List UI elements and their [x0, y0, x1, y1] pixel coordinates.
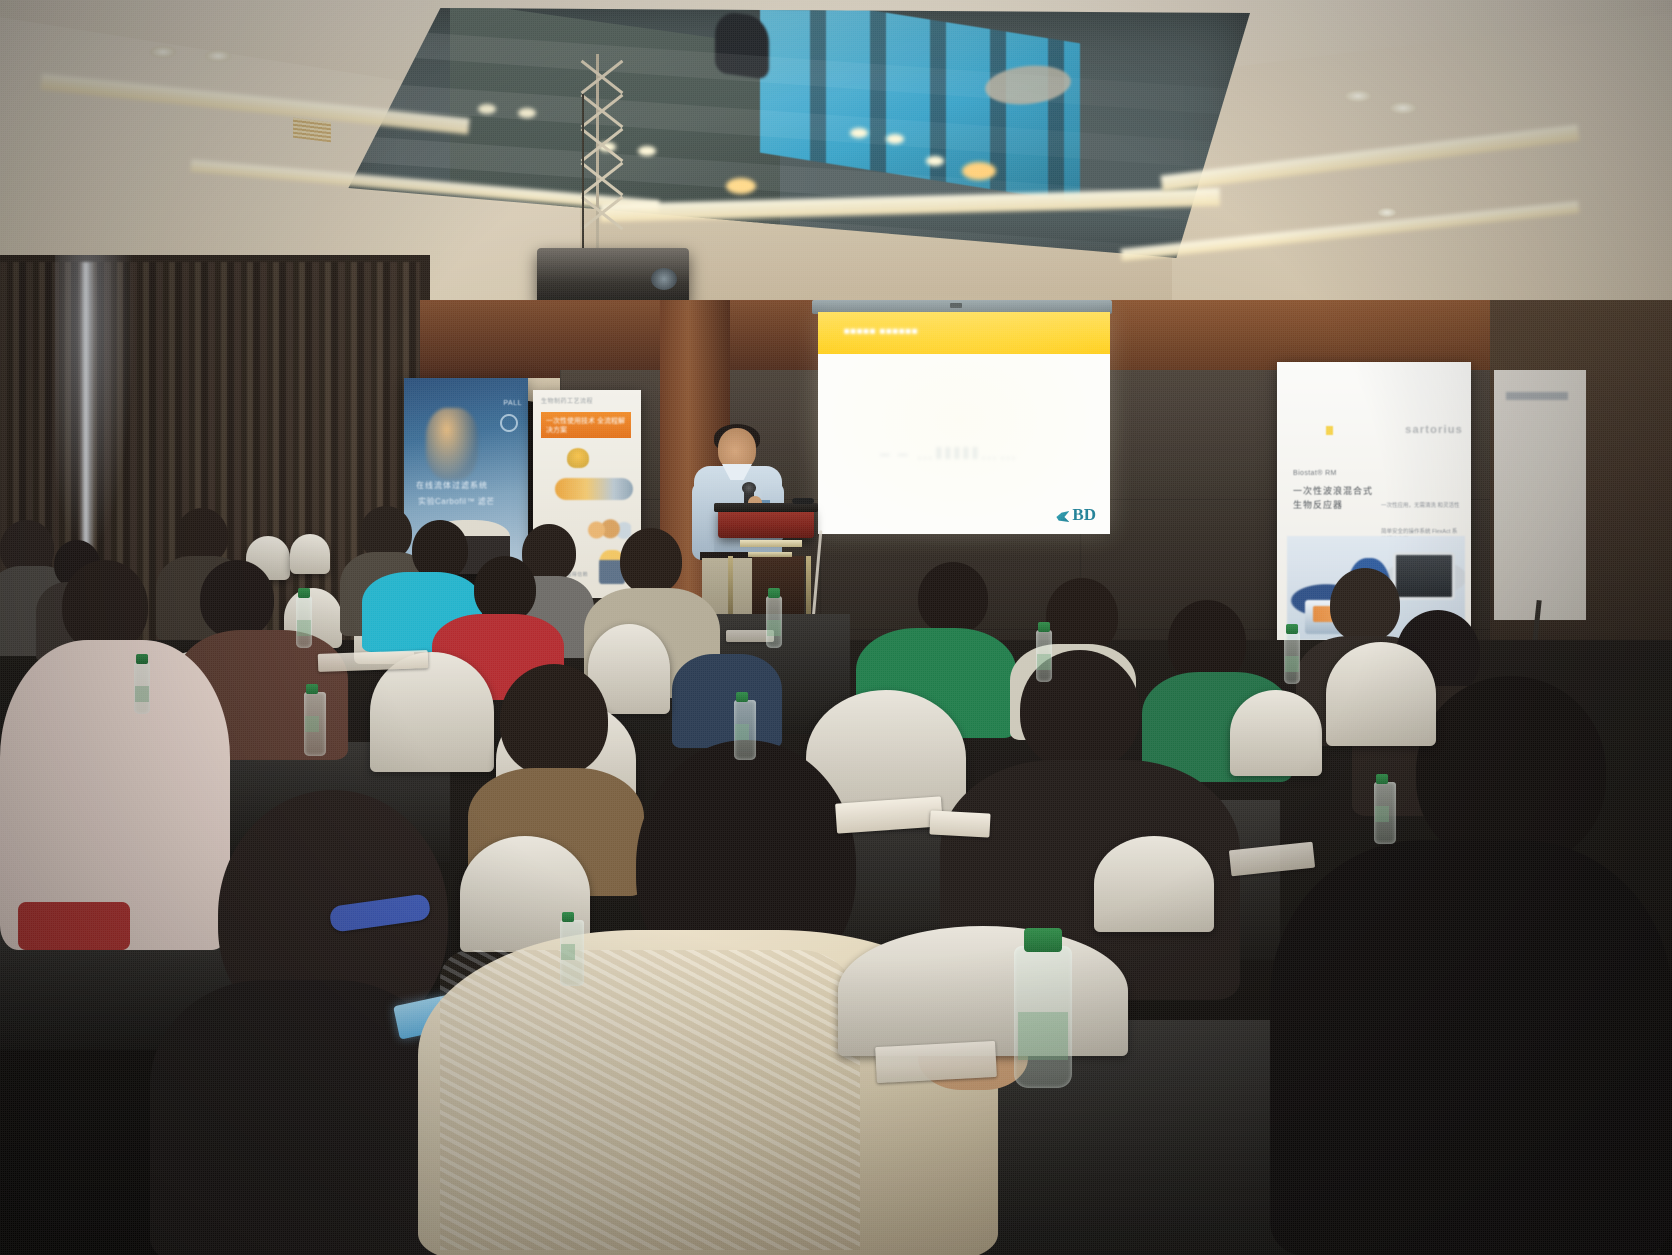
attendee-head	[474, 556, 536, 622]
attendee-black-silhouette	[1416, 676, 1606, 866]
attendee-bag	[18, 902, 130, 950]
bd-swoosh-icon	[1056, 511, 1069, 522]
banner-white-band-text: 一次性使用技术 全流程解决方案	[546, 417, 627, 435]
banquet-chair	[1230, 690, 1322, 776]
sartorius-logo-text: sartorius	[1405, 424, 1463, 436]
sartorius-logo-icon	[1326, 426, 1333, 435]
banner-white-people-artwork	[585, 518, 631, 542]
water-bottle[interactable]	[296, 596, 312, 648]
ceiling-downlight	[1378, 208, 1396, 217]
bd-logo-text: BD	[1072, 507, 1096, 522]
water-bottle[interactable]	[134, 662, 150, 714]
sartorius-headline-2: 生物反应器	[1293, 498, 1343, 511]
attendee-head	[1046, 578, 1118, 654]
slide-title-text: ■■■■■ ■■■■■■	[844, 326, 918, 336]
banquet-chair	[838, 926, 1128, 1056]
handout-paper	[929, 810, 990, 837]
sartorius-headline-1: 一次性波浪混合式	[1293, 484, 1373, 497]
attendee-head	[620, 528, 682, 594]
attendee-head	[200, 560, 274, 638]
banner-white-header: 生物制药工艺流程	[541, 396, 633, 405]
sartorius-monitor-image	[1393, 552, 1455, 600]
lectern	[718, 508, 814, 538]
flipchart-easel	[1494, 370, 1586, 620]
lectern-desktop	[714, 503, 818, 512]
banner-blue-headline: 在线流体过滤系统	[416, 480, 488, 491]
attendee-head	[412, 520, 468, 580]
daylight-glow	[55, 255, 135, 555]
handout-paper	[318, 650, 429, 672]
flipchart-marking	[1506, 392, 1568, 400]
lectern-gold-trim	[740, 540, 802, 547]
water-bottle[interactable]	[304, 692, 326, 756]
projector-lens	[651, 268, 677, 290]
lectern-microphone	[792, 498, 814, 504]
attendee-head	[500, 664, 608, 776]
ceiling-downlight	[1345, 90, 1371, 102]
screen-roller-bracket	[950, 303, 962, 308]
banner-white-icon	[567, 448, 589, 468]
banquet-chair	[290, 534, 330, 574]
water-bottle[interactable]	[1014, 946, 1072, 1088]
sartorius-bullet: 一次性应用，无需清洗 和灵活性	[1381, 502, 1461, 510]
water-bottle[interactable]	[1374, 782, 1396, 844]
sartorius-product-line: Biostat® RM	[1293, 470, 1337, 477]
ceiling-downlight	[205, 50, 231, 62]
water-bottle[interactable]	[734, 700, 756, 760]
banner-white-band: 一次性使用技术 全流程解决方案	[541, 412, 631, 438]
banner-blue-product: 实验Carbofil™ 滤芒	[418, 496, 495, 507]
handout-paper	[875, 1041, 997, 1083]
ceiling-downlight	[150, 46, 176, 58]
banquet-chair	[370, 652, 494, 772]
slide-body-text: – – …‖‖‖‖‖……	[880, 444, 1018, 464]
scissor-lift-mount	[576, 54, 620, 254]
ceiling-projector	[537, 248, 689, 306]
banquet-chair	[1326, 642, 1436, 746]
attendee-torso	[1270, 840, 1672, 1255]
banner-blue-artwork	[426, 408, 478, 480]
attendee-head	[62, 560, 148, 652]
presenter-left-arm	[692, 482, 714, 560]
banner-blue-brand: PALL	[503, 400, 522, 407]
water-bottle[interactable]	[1036, 630, 1052, 682]
ceiling-downlight	[1390, 102, 1416, 114]
attendee-head	[1330, 568, 1400, 642]
water-bottle[interactable]	[1284, 632, 1300, 684]
lectern-gold-shelf	[748, 552, 792, 557]
attendee-head	[918, 562, 988, 634]
conference-room-photo: ■■■■■ ■■■■■■ – – …‖‖‖‖‖…… BD PALL 在线流体过滤…	[0, 0, 1672, 1255]
presentation-slide: ■■■■■ ■■■■■■ – – …‖‖‖‖‖…… BD	[818, 312, 1110, 534]
microphone-head-icon	[742, 482, 756, 494]
presenter-head	[718, 428, 756, 470]
banner-white-flow-diagram	[555, 478, 633, 500]
water-bottle[interactable]	[766, 596, 782, 648]
banner-blue-emblem-icon	[500, 414, 518, 432]
bd-logo: BD	[1056, 507, 1096, 522]
crochet-texture	[440, 950, 860, 1250]
attendee-seated-legs	[672, 654, 782, 748]
projection-screen: ■■■■■ ■■■■■■ – – …‖‖‖‖‖…… BD	[818, 312, 1110, 534]
water-bottle[interactable]	[560, 920, 584, 986]
banquet-chair	[1094, 836, 1214, 932]
